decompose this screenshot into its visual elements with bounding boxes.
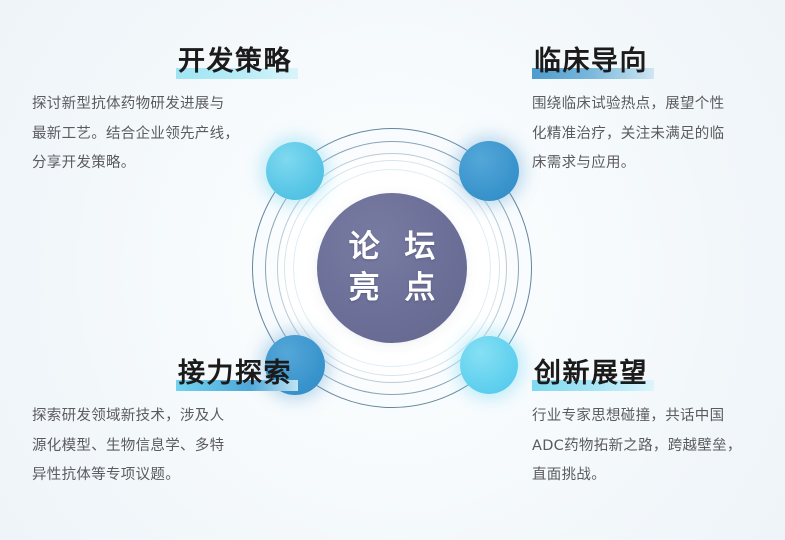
body-line: 直面挑战。 bbox=[532, 461, 785, 491]
body-line: ADC药物拓新之路，跨越壁垒， bbox=[532, 432, 785, 462]
infographic-canvas: 论 坛 亮 点 开发策略 探讨新型抗体药物研发进展与 最新工艺。结合企业领先产线… bbox=[0, 0, 785, 540]
body-line: 探索研发领域新技术，涉及人 bbox=[32, 402, 294, 432]
body-line: 围绕临床试验热点，展望个性 bbox=[532, 90, 785, 120]
feature-title-top-left: 开发策略 bbox=[176, 48, 294, 79]
center-core-circle: 论 坛 亮 点 bbox=[317, 193, 467, 343]
node-dot-top-right bbox=[459, 141, 519, 201]
body-line: 分享开发策略。 bbox=[32, 149, 294, 179]
feature-body-bottom-left: 探索研发领域新技术，涉及人 源化模型、生物信息学、多特 异性抗体等专项议题。 bbox=[32, 402, 294, 491]
feature-title-bottom-left: 接力探索 bbox=[176, 360, 294, 391]
body-line: 源化模型、生物信息学、多特 bbox=[32, 432, 294, 462]
feature-block-bottom-right: 创新展望 行业专家思想碰撞，共话中国 ADC药物拓新之路，跨越壁垒， 直面挑战。 bbox=[532, 360, 785, 491]
body-line: 异性抗体等专项议题。 bbox=[32, 461, 294, 491]
feature-block-top-right: 临床导向 围绕临床试验热点，展望个性 化精准治疗，关注未满足的临 床需求与应用。 bbox=[532, 48, 785, 179]
body-line: 最新工艺。结合企业领先产线， bbox=[32, 120, 294, 150]
center-title-line-2: 亮 点 bbox=[342, 268, 443, 309]
feature-body-top-right: 围绕临床试验热点，展望个性 化精准治疗，关注未满足的临 床需求与应用。 bbox=[532, 90, 785, 179]
body-line: 床需求与应用。 bbox=[532, 149, 785, 179]
center-title-line-1: 论 坛 bbox=[342, 227, 443, 268]
feature-body-bottom-right: 行业专家思想碰撞，共话中国 ADC药物拓新之路，跨越壁垒， 直面挑战。 bbox=[532, 402, 785, 491]
body-line: 探讨新型抗体药物研发进展与 bbox=[32, 90, 294, 120]
feature-title-bottom-right: 创新展望 bbox=[532, 360, 650, 391]
body-line: 化精准治疗，关注未满足的临 bbox=[532, 120, 785, 150]
node-dot-bottom-right bbox=[460, 336, 518, 394]
feature-body-top-left: 探讨新型抗体药物研发进展与 最新工艺。结合企业领先产线， 分享开发策略。 bbox=[32, 90, 294, 179]
feature-block-top-left: 开发策略 探讨新型抗体药物研发进展与 最新工艺。结合企业领先产线， 分享开发策略… bbox=[32, 48, 294, 179]
feature-block-bottom-left: 接力探索 探索研发领域新技术，涉及人 源化模型、生物信息学、多特 异性抗体等专项… bbox=[32, 360, 294, 491]
body-line: 行业专家思想碰撞，共话中国 bbox=[532, 402, 785, 432]
feature-title-top-right: 临床导向 bbox=[532, 48, 650, 79]
